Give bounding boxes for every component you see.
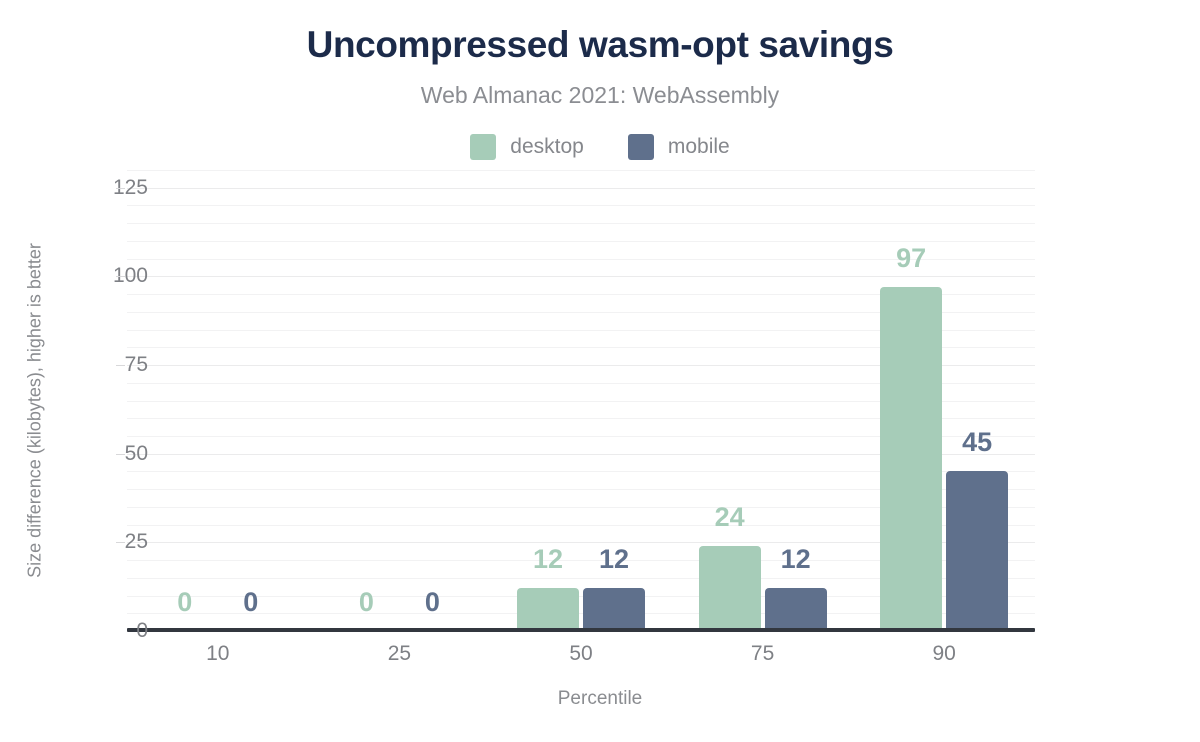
- chart-subtitle: Web Almanac 2021: WebAssembly: [0, 82, 1200, 109]
- x-axis-tick-label-50: 50: [501, 642, 661, 666]
- gridline: [127, 223, 1035, 224]
- bar-mobile-p90[interactable]: [946, 471, 1008, 631]
- x-axis-title: Percentile: [0, 688, 1200, 710]
- y-axis-tick-label: 50: [58, 442, 148, 466]
- gridline: [127, 188, 1035, 189]
- x-axis-line: [127, 628, 1035, 632]
- y-axis-tick-label: 0: [58, 619, 148, 643]
- gridline: [127, 205, 1035, 206]
- legend-item-desktop[interactable]: desktop: [470, 134, 584, 160]
- bar-value-label-mobile-p90: 45: [932, 427, 1022, 458]
- bar-value-label-mobile-p50: 12: [569, 544, 659, 575]
- legend-item-mobile[interactable]: mobile: [628, 134, 730, 160]
- y-axis-tick-mark: [116, 276, 125, 277]
- legend-label-desktop: desktop: [510, 135, 584, 159]
- y-axis-tick-mark: [116, 454, 125, 455]
- y-axis-tick-label: 25: [58, 530, 148, 554]
- bar-value-label-mobile-p75: 12: [751, 544, 841, 575]
- legend-label-mobile: mobile: [668, 135, 730, 159]
- y-axis-title: Size difference (kilobytes), higher is b…: [25, 201, 46, 621]
- bar-mobile-p50[interactable]: [583, 588, 645, 631]
- y-axis-tick-mark: [116, 365, 125, 366]
- bar-value-label-desktop-p75: 24: [685, 502, 775, 533]
- legend-swatch-mobile: [628, 134, 654, 160]
- gridline: [127, 276, 1035, 277]
- chart-title: Uncompressed wasm-opt savings: [0, 24, 1200, 66]
- bar-value-label-mobile-p10: 0: [206, 587, 296, 618]
- x-axis-tick-label-10: 10: [138, 642, 298, 666]
- y-axis-tick-mark: [116, 188, 125, 189]
- y-axis-tick-label: 100: [58, 264, 148, 288]
- x-axis-tick-label-90: 90: [864, 642, 1024, 666]
- bar-mobile-p75[interactable]: [765, 588, 827, 631]
- bar-desktop-p90[interactable]: [880, 287, 942, 631]
- gridline: [127, 170, 1035, 171]
- y-axis-tick-label: 125: [58, 176, 148, 200]
- y-axis-tick-label: 75: [58, 353, 148, 377]
- legend-swatch-desktop: [470, 134, 496, 160]
- x-axis-tick-label-75: 75: [683, 642, 843, 666]
- chart-legend: desktopmobile: [0, 134, 1200, 160]
- bar-desktop-p50[interactable]: [517, 588, 579, 631]
- bar-value-label-desktop-p90: 97: [866, 243, 956, 274]
- chart-container: Uncompressed wasm-opt savings Web Almana…: [0, 0, 1200, 742]
- gridline: [127, 241, 1035, 242]
- bar-value-label-mobile-p25: 0: [387, 587, 477, 618]
- y-axis-tick-mark: [116, 542, 125, 543]
- x-axis-tick-label-25: 25: [319, 642, 479, 666]
